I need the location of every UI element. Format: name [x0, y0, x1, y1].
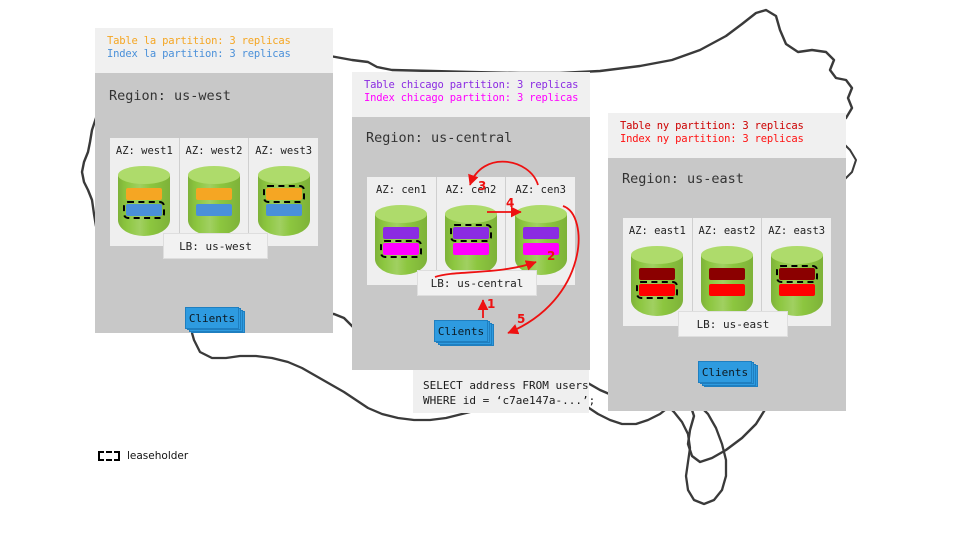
cylinder-top — [515, 205, 567, 223]
banner-line-table: Table ny partition: 3 replicas — [620, 120, 834, 133]
cylinder-east1[interactable] — [631, 246, 683, 324]
az-label-cen2: AZ: cen2 — [437, 184, 506, 196]
banner-line-index: Index ny partition: 3 replicas — [620, 133, 834, 146]
clients-stack-us-east[interactable]: Clients — [698, 361, 758, 387]
leaseholder-swatch-icon — [98, 451, 120, 461]
replica-block-index-leaseholder[interactable] — [383, 243, 419, 255]
clients-label[interactable]: Clients — [698, 361, 752, 383]
region-banner-us-east: Table ny partition: 3 replicas Index ny … — [608, 113, 846, 158]
az-cell-east3[interactable]: AZ: east3 — [762, 218, 831, 326]
replica-block-table[interactable] — [523, 227, 559, 239]
flow-step-number-4: 4 — [506, 196, 514, 210]
diagram-canvas: Table la partition: 3 replicas Index la … — [0, 0, 960, 540]
replica-block-table[interactable] — [639, 268, 675, 280]
az-cell-cen2[interactable]: AZ: cen2 — [437, 177, 507, 285]
az-label-west3: AZ: west3 — [249, 145, 318, 157]
replica-block-index[interactable] — [453, 243, 489, 255]
sql-line-1: SELECT address FROM users — [423, 378, 579, 393]
az-cell-east1[interactable]: AZ: east1 — [623, 218, 693, 326]
cylinder-top — [701, 246, 753, 264]
replica-block-table[interactable] — [383, 227, 419, 239]
flow-step-number-1: 1 — [487, 297, 495, 311]
replica-blocks — [258, 188, 310, 220]
replica-block-table[interactable] — [196, 188, 232, 200]
az-label-east1: AZ: east1 — [623, 225, 692, 237]
az-cell-west3[interactable]: AZ: west3 — [249, 138, 318, 246]
cylinder-top — [375, 205, 427, 223]
az-label-west2: AZ: west2 — [180, 145, 249, 157]
flow-step-number-2: 2 — [547, 249, 555, 263]
cylinder-top — [445, 205, 497, 223]
replica-block-table-leaseholder[interactable] — [266, 188, 302, 200]
az-cell-east2[interactable]: AZ: east2 — [693, 218, 763, 326]
replica-blocks — [118, 188, 170, 220]
flow-step-number-3: 3 — [478, 179, 486, 193]
replica-block-index[interactable] — [779, 284, 815, 296]
clients-stack-us-central[interactable]: Clients — [434, 320, 494, 346]
replica-block-index-leaseholder[interactable] — [639, 284, 675, 296]
replica-blocks — [771, 268, 823, 300]
load-balancer-us-central[interactable]: LB: us-central — [417, 270, 537, 296]
replica-block-index[interactable] — [709, 284, 745, 296]
replica-blocks — [515, 227, 567, 259]
cylinder-top — [771, 246, 823, 264]
az-cell-cen1[interactable]: AZ: cen1 — [367, 177, 437, 285]
load-balancer-us-west[interactable]: LB: us-west — [163, 233, 268, 259]
az-label-cen1: AZ: cen1 — [367, 184, 436, 196]
clients-label[interactable]: Clients — [185, 307, 239, 329]
az-cell-cen3[interactable]: AZ: cen3 — [506, 177, 575, 285]
cylinder-top — [631, 246, 683, 264]
replica-blocks — [375, 227, 427, 259]
banner-line-index: Index chicago partition: 3 replicas — [364, 92, 578, 105]
load-balancer-us-east[interactable]: LB: us-east — [678, 311, 788, 337]
replica-block-index[interactable] — [266, 204, 302, 216]
cylinder-top — [258, 166, 310, 184]
replica-block-index-leaseholder[interactable] — [126, 204, 162, 216]
az-label-west1: AZ: west1 — [110, 145, 179, 157]
replica-block-table[interactable] — [126, 188, 162, 200]
region-panel-us-central: Table chicago partition: 3 replicas Inde… — [352, 72, 590, 370]
flow-step-number-5: 5 — [517, 312, 525, 326]
az-strip-us-west: AZ: west1 AZ: west2 — [110, 138, 318, 246]
replica-block-index[interactable] — [196, 204, 232, 216]
cylinder-top — [118, 166, 170, 184]
replica-blocks — [631, 268, 683, 300]
replica-blocks — [445, 227, 497, 259]
replica-block-table-leaseholder[interactable] — [779, 268, 815, 280]
banner-line-table: Table la partition: 3 replicas — [107, 35, 321, 48]
replica-block-table-leaseholder[interactable] — [453, 227, 489, 239]
replica-blocks — [701, 268, 753, 300]
banner-line-index: Index la partition: 3 replicas — [107, 48, 321, 61]
az-strip-us-east: AZ: east1 AZ: east2 — [623, 218, 831, 326]
region-title-us-west: Region: us-west — [109, 88, 231, 104]
az-cell-west1[interactable]: AZ: west1 — [110, 138, 180, 246]
region-banner-us-west: Table la partition: 3 replicas Index la … — [95, 28, 333, 73]
az-label-east2: AZ: east2 — [693, 225, 762, 237]
sql-line-2: WHERE id = ‘c7ae147a-...’; — [423, 393, 579, 408]
az-label-cen3: AZ: cen3 — [506, 184, 575, 196]
az-strip-us-central: AZ: cen1 AZ: cen2 — [367, 177, 575, 285]
az-cell-west2[interactable]: AZ: west2 — [180, 138, 250, 246]
legend-leaseholder: leaseholder — [98, 450, 188, 462]
region-title-us-central: Region: us-central — [366, 130, 512, 146]
sql-query-box: SELECT address FROM users WHERE id = ‘c7… — [413, 370, 589, 413]
legend-label: leaseholder — [127, 450, 188, 462]
region-title-us-east: Region: us-east — [622, 171, 744, 187]
az-label-east3: AZ: east3 — [762, 225, 831, 237]
clients-label[interactable]: Clients — [434, 320, 488, 342]
cylinder-top — [188, 166, 240, 184]
banner-line-table: Table chicago partition: 3 replicas — [364, 79, 578, 92]
region-banner-us-central: Table chicago partition: 3 replicas Inde… — [352, 72, 590, 117]
region-panel-us-east: Table ny partition: 3 replicas Index ny … — [608, 113, 846, 411]
replica-blocks — [188, 188, 240, 220]
region-panel-us-west: Table la partition: 3 replicas Index la … — [95, 28, 333, 333]
replica-block-table[interactable] — [709, 268, 745, 280]
clients-stack-us-west[interactable]: Clients — [185, 307, 245, 333]
